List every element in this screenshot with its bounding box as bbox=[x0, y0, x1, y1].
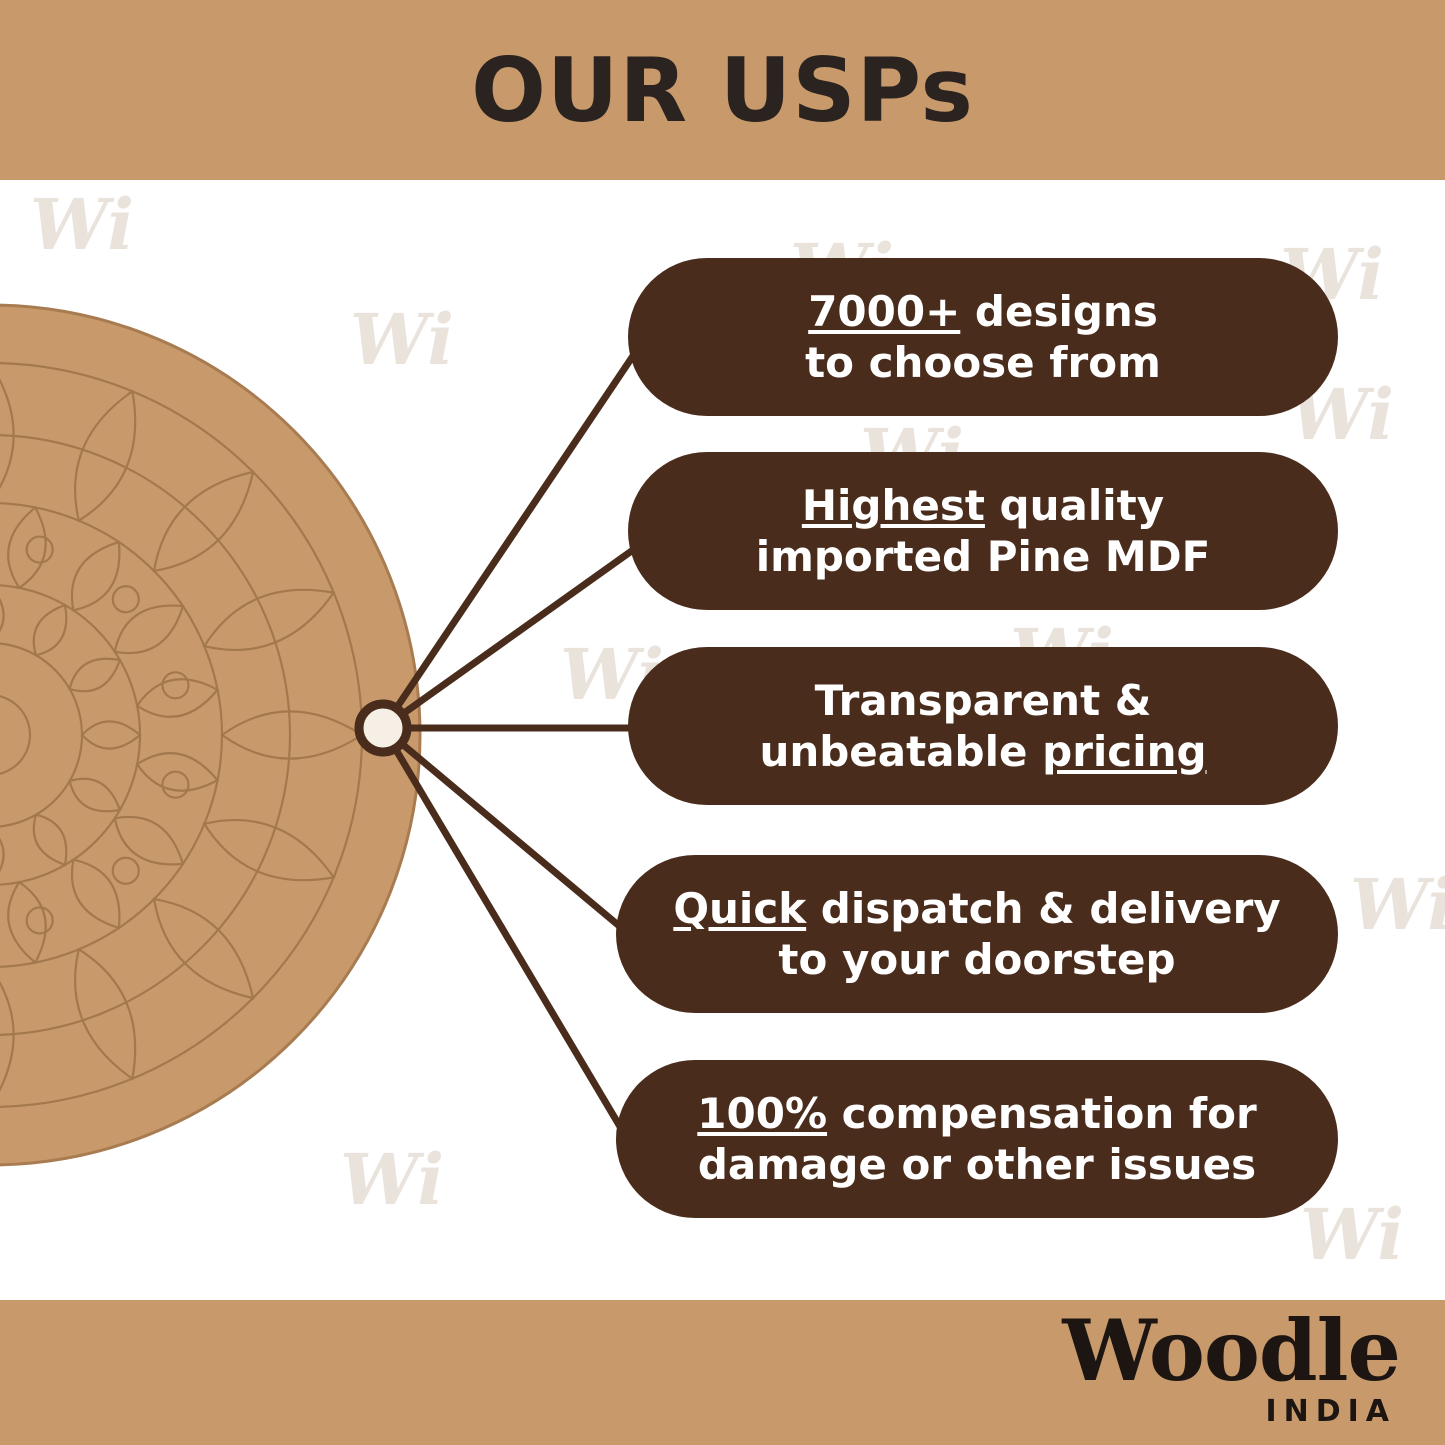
usp-2-line2: imported Pine MDF bbox=[756, 532, 1211, 581]
watermark-tile: Wi bbox=[1350, 870, 1445, 940]
connector-line-2 bbox=[383, 545, 640, 728]
usp-pill-quality: Highest quality imported Pine MDF bbox=[628, 452, 1338, 610]
mandala-board-image bbox=[0, 295, 440, 1195]
usp-1-line2: to choose from bbox=[805, 338, 1161, 387]
watermark-tile: Wi bbox=[30, 190, 134, 260]
brand-country: INDIA bbox=[1062, 1397, 1396, 1427]
usp-1-emphasis: 7000+ bbox=[808, 287, 960, 336]
infographic-canvas: WiWiWiWiWiWiWiWiWiWiWi bbox=[0, 0, 1445, 1445]
connector-line-1 bbox=[383, 338, 645, 728]
watermark-tile: Wi bbox=[1300, 1200, 1404, 1270]
usp-5-line1-rest: compensation for bbox=[827, 1089, 1257, 1138]
usp-pill-compensation: 100% compensation for damage or other is… bbox=[616, 1060, 1338, 1218]
usp-1-line1-rest: designs bbox=[960, 287, 1158, 336]
usp-pill-dispatch: Quick dispatch & delivery to your doorst… bbox=[616, 855, 1338, 1013]
connector-line-4 bbox=[383, 728, 630, 935]
page-title: OUR USPs bbox=[0, 0, 1445, 180]
usp-3-line2-prefix: unbeatable bbox=[759, 727, 1042, 776]
hub-node bbox=[359, 704, 407, 752]
brand-logo: Woodle INDIA bbox=[1062, 1309, 1400, 1427]
usp-3-emphasis: pricing bbox=[1042, 727, 1206, 776]
usp-5-line2: damage or other issues bbox=[698, 1140, 1256, 1189]
usp-3-line1: Transparent & bbox=[815, 676, 1152, 725]
usp-2-emphasis: Highest bbox=[802, 481, 985, 530]
usp-2-line1-rest: quality bbox=[985, 481, 1164, 530]
usp-4-emphasis: Quick bbox=[673, 884, 806, 933]
watermark-tile: Wi bbox=[350, 305, 454, 375]
connector-line-5 bbox=[383, 728, 628, 1140]
brand-name: Woodle bbox=[1062, 1309, 1400, 1393]
usp-4-line2: to your doorstep bbox=[778, 935, 1175, 984]
usp-4-line1-rest: dispatch & delivery bbox=[806, 884, 1281, 933]
usp-pill-pricing: Transparent & unbeatable pricing bbox=[628, 647, 1338, 805]
watermark-tile: Wi bbox=[340, 1145, 444, 1215]
usp-pill-designs: 7000+ designs to choose from bbox=[628, 258, 1338, 416]
usp-5-emphasis: 100% bbox=[697, 1089, 827, 1138]
